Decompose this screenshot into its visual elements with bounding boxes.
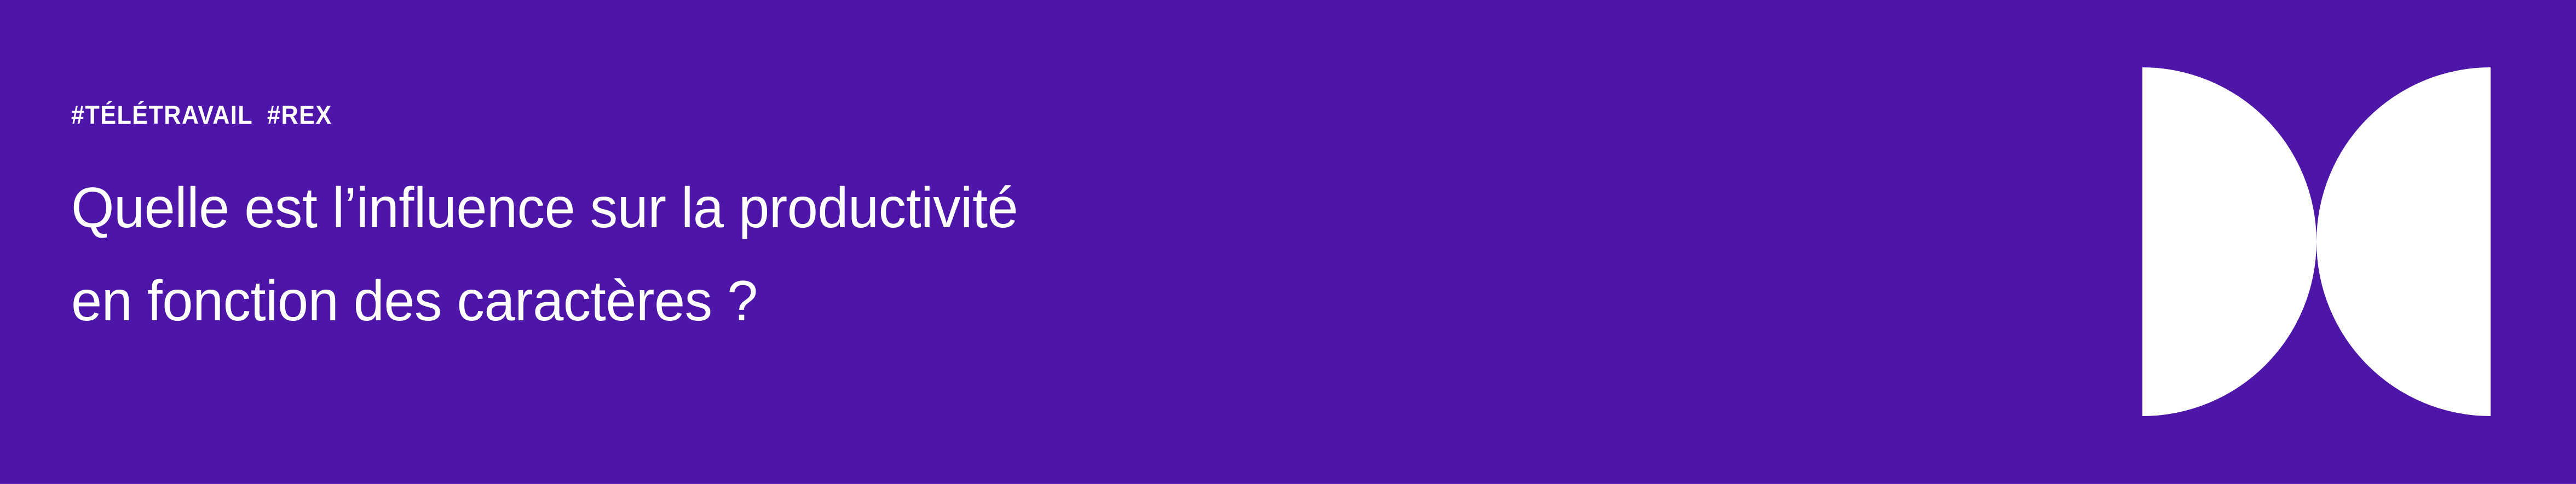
- butterfly-logo-right-petal-icon: [2316, 67, 2491, 416]
- banner: #TÉLÉTRAVAIL #REX Quelle est l’influence…: [0, 0, 2576, 484]
- hashtag-line: #TÉLÉTRAVAIL #REX: [71, 88, 1885, 128]
- butterfly-logo-left-petal-icon: [2142, 67, 2316, 416]
- page-title: Quelle est l’influence sur la productivi…: [71, 128, 1983, 348]
- butterfly-logo: [2142, 67, 2491, 416]
- banner-text-block: #TÉLÉTRAVAIL #REX Quelle est l’influence…: [71, 88, 2042, 348]
